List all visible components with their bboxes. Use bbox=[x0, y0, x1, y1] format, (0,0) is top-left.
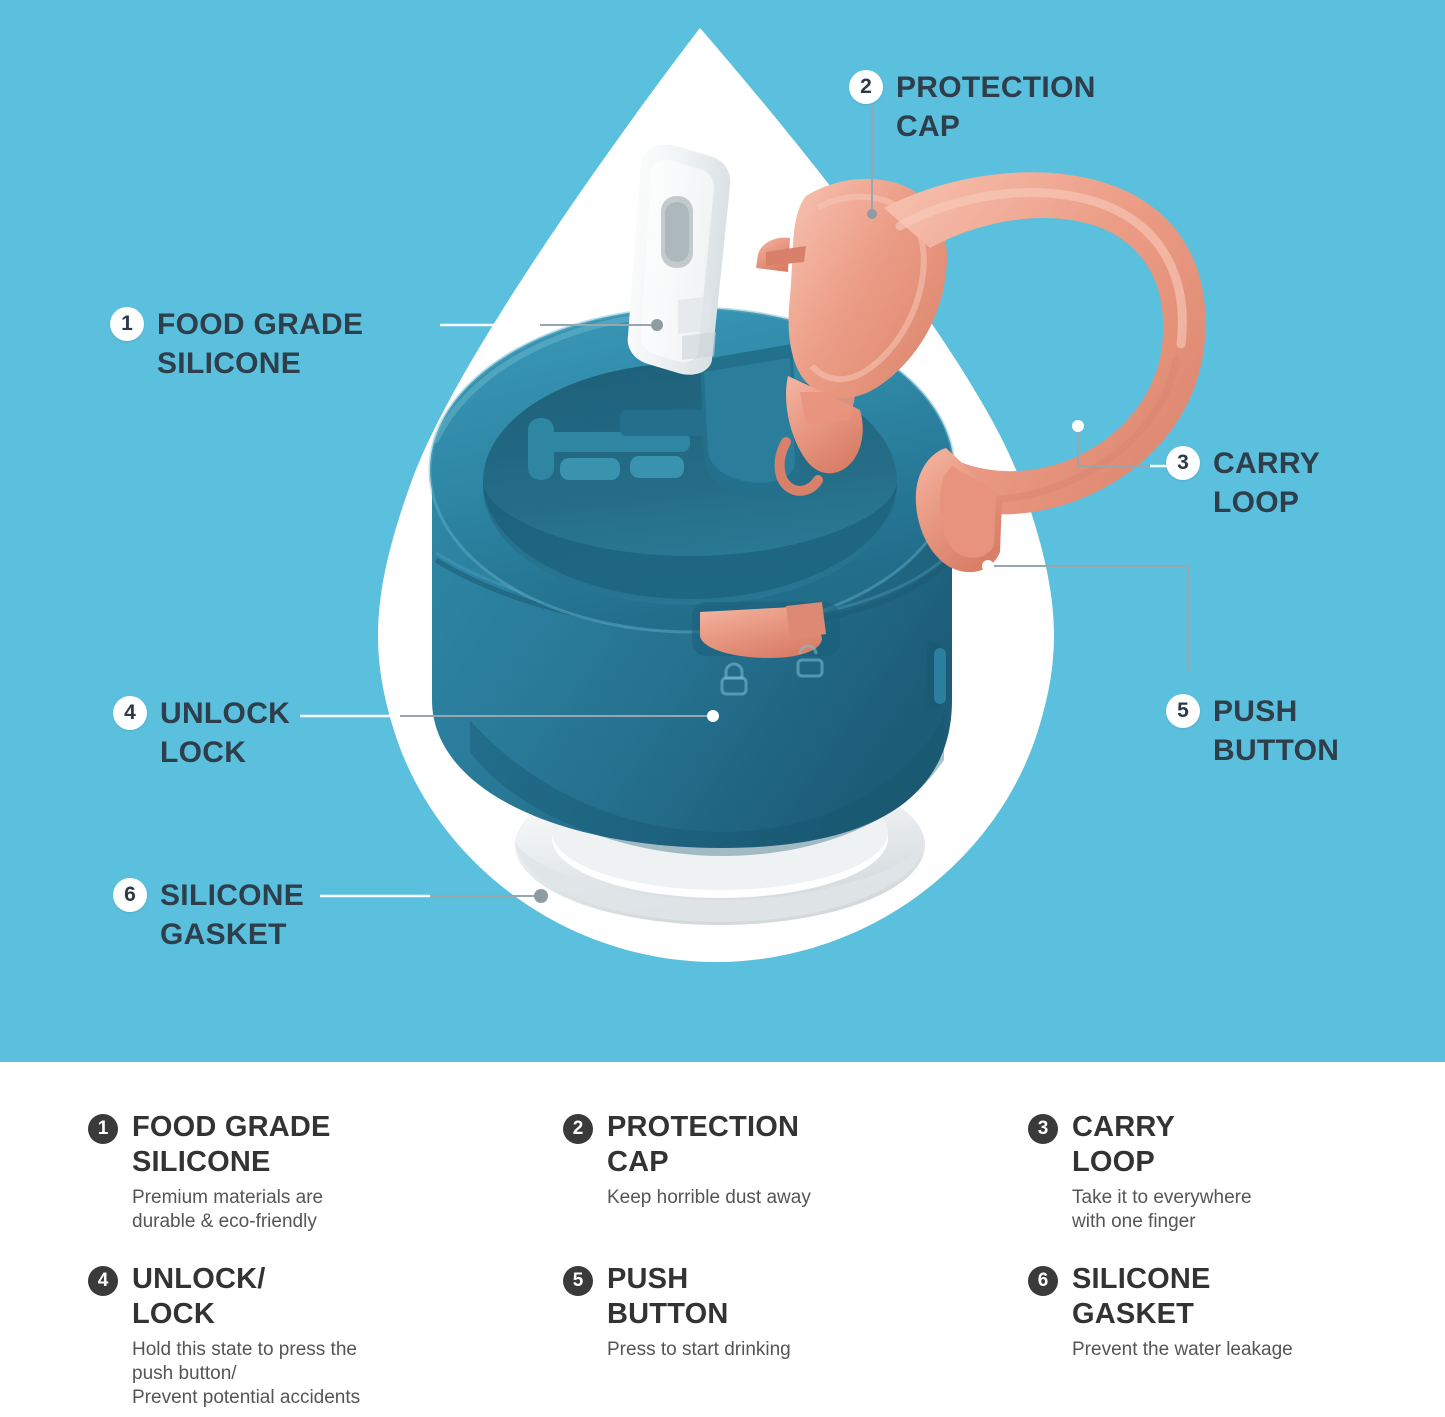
legend-title-4: UNLOCK/ LOCK bbox=[132, 1262, 360, 1333]
callout-6-silicone-gasket: 6 SILICONE GASKET bbox=[113, 876, 304, 954]
legend-body-3: CARRY LOOP Take it to everywhere with on… bbox=[1072, 1110, 1252, 1234]
legend-body-4: UNLOCK/ LOCK Hold this state to press th… bbox=[132, 1262, 360, 1410]
legend-badge-1: 1 bbox=[88, 1114, 118, 1144]
legend-desc-1: Premium materials are durable & eco-frie… bbox=[132, 1186, 331, 1234]
legend-item-2: 2 PROTECTION CAP Keep horrible dust away bbox=[563, 1110, 1028, 1234]
callout-badge-1: 1 bbox=[110, 307, 144, 341]
legend-item-4: 4 UNLOCK/ LOCK Hold this state to press … bbox=[88, 1262, 563, 1410]
legend-desc-5: Press to start drinking bbox=[607, 1338, 791, 1362]
legend-title-2: PROTECTION CAP bbox=[607, 1110, 811, 1181]
legend-body-1: FOOD GRADE SILICONE Premium materials ar… bbox=[132, 1110, 331, 1234]
infographic-page: 1 FOOD GRADE SILICONE 2 PROTECTION CAP 3… bbox=[0, 0, 1445, 1417]
callout-badge-3: 3 bbox=[1166, 446, 1200, 480]
legend-item-1: 1 FOOD GRADE SILICONE Premium materials … bbox=[88, 1110, 563, 1234]
legend-item-5: 5 PUSH BUTTON Press to start drinking bbox=[563, 1262, 1028, 1410]
legend-body-5: PUSH BUTTON Press to start drinking bbox=[607, 1262, 791, 1362]
callout-4-unlock-lock: 4 UNLOCK LOCK bbox=[113, 694, 290, 772]
legend-grid: 1 FOOD GRADE SILICONE Premium materials … bbox=[88, 1110, 1375, 1410]
legend-item-6: 6 SILICONE GASKET Prevent the water leak… bbox=[1028, 1262, 1375, 1410]
hero-panel: 1 FOOD GRADE SILICONE 2 PROTECTION CAP 3… bbox=[0, 0, 1445, 1062]
legend-desc-2: Keep horrible dust away bbox=[607, 1186, 811, 1210]
legend-title-6: SILICONE GASKET bbox=[1072, 1262, 1293, 1333]
legend-badge-2: 2 bbox=[563, 1114, 593, 1144]
callout-badge-4: 4 bbox=[113, 696, 147, 730]
callout-label-1: FOOD GRADE SILICONE bbox=[157, 305, 363, 383]
legend-badge-5: 5 bbox=[563, 1266, 593, 1296]
legend-desc-3: Take it to everywhere with one finger bbox=[1072, 1186, 1252, 1234]
callout-label-3: CARRY LOOP bbox=[1213, 444, 1320, 522]
legend-body-2: PROTECTION CAP Keep horrible dust away bbox=[607, 1110, 811, 1210]
legend-item-3: 3 CARRY LOOP Take it to everywhere with … bbox=[1028, 1110, 1375, 1234]
legend-title-1: FOOD GRADE SILICONE bbox=[132, 1110, 331, 1181]
callout-2-protection-cap: 2 PROTECTION CAP bbox=[849, 68, 1096, 146]
carry-loop-part bbox=[884, 172, 1206, 572]
callout-3-carry-loop: 3 CARRY LOOP bbox=[1166, 444, 1320, 522]
callout-badge-2: 2 bbox=[849, 70, 883, 104]
legend-desc-4: Hold this state to press the push button… bbox=[132, 1338, 360, 1410]
legend-panel: 1 FOOD GRADE SILICONE Premium materials … bbox=[0, 1062, 1445, 1417]
callout-badge-6: 6 bbox=[113, 878, 147, 912]
legend-badge-6: 6 bbox=[1028, 1266, 1058, 1296]
legend-title-5: PUSH BUTTON bbox=[607, 1262, 791, 1333]
callout-label-6: SILICONE GASKET bbox=[160, 876, 304, 954]
callout-1-food-grade-silicone: 1 FOOD GRADE SILICONE bbox=[110, 305, 363, 383]
legend-badge-3: 3 bbox=[1028, 1114, 1058, 1144]
callout-label-2: PROTECTION CAP bbox=[896, 68, 1096, 146]
callout-label-4: UNLOCK LOCK bbox=[160, 694, 290, 772]
legend-title-3: CARRY LOOP bbox=[1072, 1110, 1252, 1181]
callout-badge-5: 5 bbox=[1166, 694, 1200, 728]
legend-badge-4: 4 bbox=[88, 1266, 118, 1296]
legend-body-6: SILICONE GASKET Prevent the water leakag… bbox=[1072, 1262, 1293, 1362]
legend-desc-6: Prevent the water leakage bbox=[1072, 1338, 1293, 1362]
callout-label-5: PUSH BUTTON bbox=[1213, 692, 1339, 770]
callout-5-push-button: 5 PUSH BUTTON bbox=[1166, 692, 1339, 770]
